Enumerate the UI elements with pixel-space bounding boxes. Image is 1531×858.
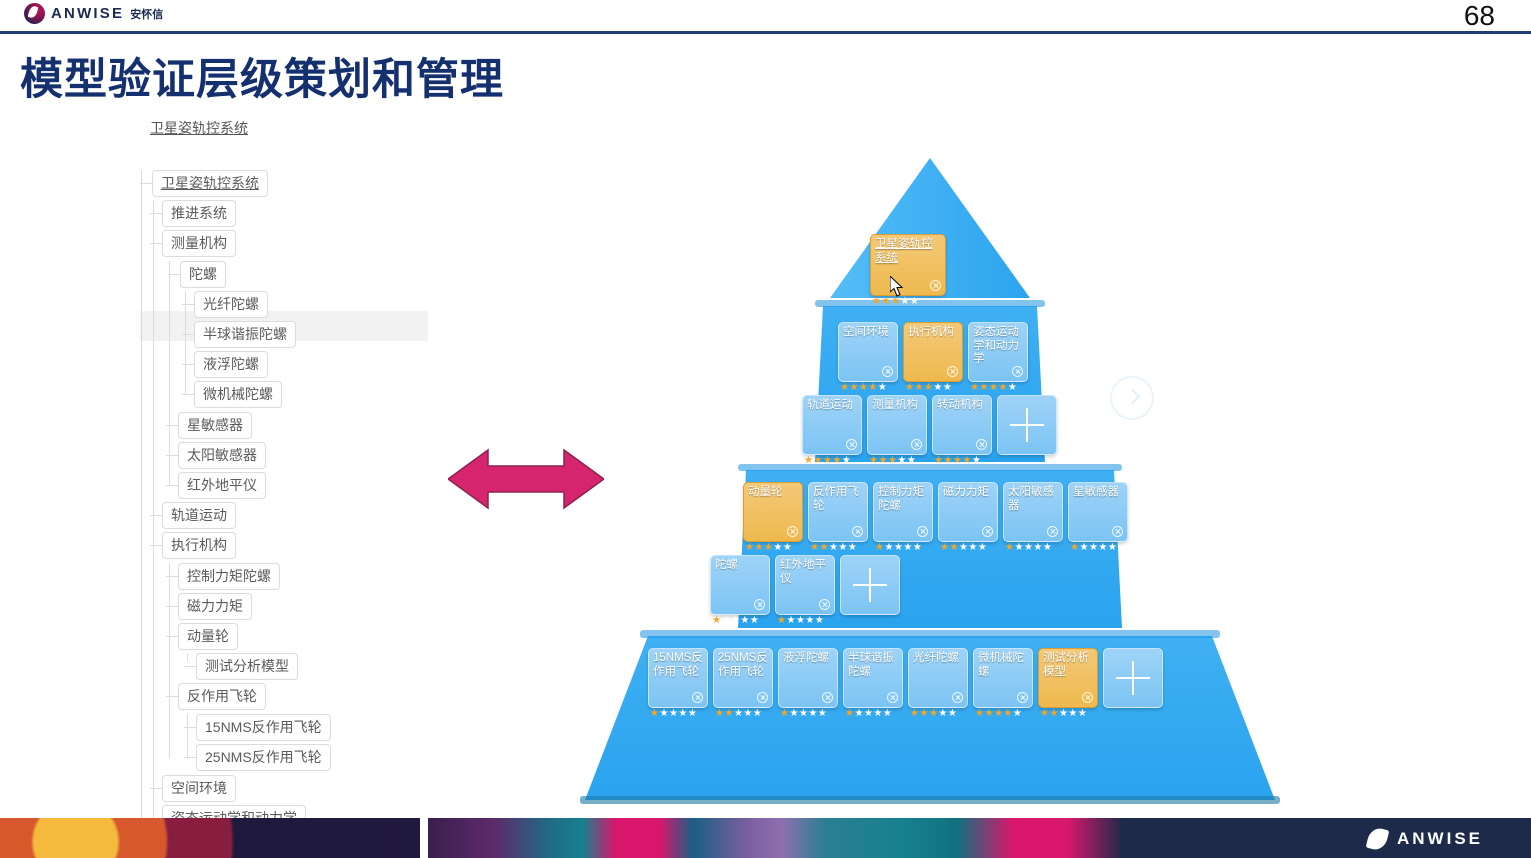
pyramid-tile-label: 红外地平仪 xyxy=(780,559,831,586)
close-circle-icon[interactable] xyxy=(982,526,993,537)
close-circle-icon[interactable] xyxy=(917,526,928,537)
plus-icon xyxy=(1010,424,1044,426)
close-circle-icon[interactable] xyxy=(882,366,893,377)
pyramid-tile-label: 姿态运动学和动力学 xyxy=(973,326,1024,367)
tree-node[interactable]: 测量机构 xyxy=(162,230,236,257)
close-circle-icon[interactable] xyxy=(846,439,857,450)
tree-node[interactable]: 磁力力矩 xyxy=(178,593,252,620)
tree-node[interactable]: 液浮陀螺 xyxy=(194,351,268,378)
tree-connector xyxy=(166,606,178,607)
pyramid-tile[interactable]: 动量轮★★★★★ xyxy=(743,482,803,542)
pyramid-tile[interactable]: 卫星姿轨控系统★★★★★ xyxy=(870,234,946,296)
pyramid-tile[interactable]: 轨道运动★★★★★ xyxy=(802,395,862,455)
tree-node[interactable]: 光纤陀螺 xyxy=(194,291,268,318)
tree-connector xyxy=(166,576,178,577)
tree-connector xyxy=(169,563,170,759)
close-circle-icon[interactable] xyxy=(911,439,922,450)
close-circle-icon[interactable] xyxy=(1082,692,1093,703)
close-circle-icon[interactable] xyxy=(1112,526,1123,537)
close-circle-icon[interactable] xyxy=(1017,692,1028,703)
tree-connector xyxy=(150,213,162,214)
tree-connector xyxy=(166,485,178,486)
pyramid-tile[interactable]: 转动机构★★★★★ xyxy=(932,395,992,455)
pyramid-tile-label: 25NMS反作用飞轮 xyxy=(718,652,769,679)
pyramid-tile[interactable]: 测量机构★★★★★ xyxy=(867,395,927,455)
tree-node[interactable]: 轨道运动 xyxy=(162,502,236,529)
anwise-logo-icon xyxy=(24,3,45,24)
tree-node[interactable]: 执行机构 xyxy=(162,532,236,559)
pyramid-tile-label: 磁力力矩 xyxy=(943,486,994,500)
footer-brand-name: ANWISE xyxy=(1397,829,1483,849)
tree-node[interactable]: 陀螺 xyxy=(180,261,226,288)
tree-node[interactable]: 测试分析模型 xyxy=(196,653,298,680)
pyramid-tile[interactable]: 液浮陀螺★★★★★ xyxy=(778,648,838,708)
tree-connector xyxy=(185,291,186,395)
star-rating[interactable]: ★★★★★ xyxy=(1005,543,1052,553)
tree-connector xyxy=(187,714,188,758)
close-circle-icon[interactable] xyxy=(947,366,958,377)
tree-connector xyxy=(166,455,178,456)
pyramid-tile-label: 太阳敏感器 xyxy=(1008,486,1059,513)
star-rating[interactable]: ★★★★★ xyxy=(777,616,824,626)
tree-node[interactable]: 25NMS反作用飞轮 xyxy=(196,744,331,771)
add-tile-button[interactable] xyxy=(1103,648,1163,708)
pyramid-tile[interactable]: 控制力矩陀螺★★★★★ xyxy=(873,482,933,542)
pyramid-tile-label: 动量轮 xyxy=(748,486,799,500)
close-circle-icon[interactable] xyxy=(822,692,833,703)
pyramid-tile[interactable]: 红外地平仪★★★★★ xyxy=(775,555,835,615)
pyramid-tile-label: 转动机构 xyxy=(937,399,988,413)
tree-connector xyxy=(182,364,194,365)
tree-node[interactable]: 控制力矩陀螺 xyxy=(178,563,280,590)
star-rating[interactable]: ★★★★★ xyxy=(975,709,1022,719)
pyramid-tile-label: 微机械陀螺 xyxy=(978,652,1029,679)
plus-icon xyxy=(853,584,887,586)
brand-name: ANWISE xyxy=(51,5,124,22)
tree-node[interactable]: 太阳敏感器 xyxy=(178,442,266,469)
tree-node[interactable]: 微机械陀螺 xyxy=(194,381,282,408)
star-rating[interactable]: ★★★★★ xyxy=(715,709,762,719)
star-rating[interactable]: ★★★★★ xyxy=(875,543,922,553)
tree-connector xyxy=(150,243,162,244)
pyramid-tile-label: 执行机构 xyxy=(908,326,959,340)
star-rating[interactable]: ★★★★★ xyxy=(934,456,981,466)
star-rating[interactable]: ★★★★★ xyxy=(810,543,857,553)
pyramid-tile-label: 15NMS反作用飞轮 xyxy=(653,652,704,679)
footer-right-banner xyxy=(428,818,1531,858)
tree-node[interactable]: 红外地平仪 xyxy=(178,472,266,499)
tree-connector xyxy=(150,515,162,516)
pyramid-tile[interactable]: 光纤陀螺★★★★★ xyxy=(908,648,968,708)
close-circle-icon[interactable] xyxy=(692,692,703,703)
close-circle-icon[interactable] xyxy=(930,280,941,291)
chevron-right-icon xyxy=(1125,389,1141,405)
star-rating[interactable]: ★★★★★ xyxy=(845,709,892,719)
pyramid-tile-label: 液浮陀螺 xyxy=(783,652,834,666)
tree-connector xyxy=(141,170,142,846)
close-circle-icon[interactable] xyxy=(757,692,768,703)
pyramid-tile[interactable]: 星敏感器★★★★★ xyxy=(1068,482,1128,542)
tree-heading: 卫星姿轨控系统 xyxy=(150,118,248,138)
close-circle-icon[interactable] xyxy=(819,599,830,610)
tree-connector xyxy=(150,788,162,789)
star-rating[interactable]: ★★★★★ xyxy=(650,709,697,719)
tree-connector xyxy=(169,261,170,485)
pyramid-tile[interactable]: 25NMS反作用飞轮★★★★★ xyxy=(713,648,773,708)
tree-node[interactable]: 半球谐振陀螺 xyxy=(194,321,296,348)
footer-brand-logo: ANWISE xyxy=(1368,828,1483,850)
star-rating[interactable]: ★★★★★ xyxy=(910,709,957,719)
pyramid-tile-label: 控制力矩陀螺 xyxy=(878,486,929,513)
star-rating[interactable]: ★★★★★ xyxy=(940,543,987,553)
pyramid-tile[interactable]: 陀螺★★★★★ xyxy=(710,555,770,615)
tree-connector xyxy=(153,200,154,846)
tree-node[interactable]: 反作用飞轮 xyxy=(178,683,266,710)
tree-connector xyxy=(184,727,196,728)
pyramid-tile[interactable]: 空间环境★★★★★ xyxy=(838,322,898,382)
tree-node[interactable]: 卫星姿轨控系统 xyxy=(152,170,268,197)
pyramid-tile-label: 半球谐振陀螺 xyxy=(848,652,899,679)
tree-panel[interactable]: 卫星姿轨控系统 卫星姿轨控系统推进系统测量机构陀螺光纤陀螺半球谐振陀螺液浮陀螺微… xyxy=(0,104,430,846)
close-circle-icon[interactable] xyxy=(952,692,963,703)
pyramid-tile-label: 测试分析模型 xyxy=(1043,652,1094,679)
star-rating[interactable]: ★★★★★ xyxy=(905,383,952,393)
star-rating[interactable]: ★★★★★ xyxy=(712,616,759,626)
tree-connector xyxy=(182,334,194,335)
tree-connector xyxy=(182,304,194,305)
tree-connector xyxy=(187,653,188,661)
tree-node[interactable]: 15NMS反作用飞轮 xyxy=(196,714,331,741)
pyramid-tile-label: 测量机构 xyxy=(872,399,923,413)
page-title: 模型验证层级策划和管理 xyxy=(20,45,504,107)
tree-node[interactable]: 空间环境 xyxy=(162,775,236,802)
tree-connector xyxy=(166,696,178,697)
mouse-cursor xyxy=(890,276,906,303)
star-rating[interactable]: ★★★★★ xyxy=(1070,543,1117,553)
pyramid-tile[interactable]: 执行机构★★★★★ xyxy=(903,322,963,382)
close-circle-icon[interactable] xyxy=(787,526,798,537)
pyramid-tile[interactable]: 微机械陀螺★★★★★ xyxy=(973,648,1033,708)
star-rating[interactable]: ★★★★★ xyxy=(869,456,916,466)
pyramid-tile[interactable]: 半球谐振陀螺★★★★★ xyxy=(843,648,903,708)
star-rating[interactable]: ★★★★★ xyxy=(1040,709,1087,719)
tree-node[interactable]: 星敏感器 xyxy=(178,412,252,439)
pyramid-tile-label: 反作用飞轮 xyxy=(813,486,864,513)
pyramid-tile[interactable]: 15NMS反作用飞轮★★★★★ xyxy=(648,648,708,708)
star-rating[interactable]: ★★★★★ xyxy=(745,543,792,553)
brand-logo: ANWISE 安怀信 xyxy=(24,3,163,24)
close-circle-icon[interactable] xyxy=(1012,366,1023,377)
pyramid-tile-label: 卫星姿轨控系统 xyxy=(875,238,942,265)
page-number: 68 xyxy=(1464,0,1495,32)
pyramid-tile-label: 陀螺 xyxy=(715,559,766,573)
pyramid-tile-label: 星敏感器 xyxy=(1073,486,1124,500)
pyramid-tile[interactable]: 太阳敏感器★★★★★ xyxy=(1003,482,1063,542)
star-rating[interactable]: ★★★★★ xyxy=(804,456,851,466)
close-circle-icon[interactable] xyxy=(754,599,765,610)
star-rating[interactable]: ★★★★★ xyxy=(780,709,827,719)
close-circle-icon[interactable] xyxy=(1047,526,1058,537)
footer-left-banner xyxy=(0,818,420,858)
pyramid-tile-label: 轨道运动 xyxy=(807,399,858,413)
tree-connector xyxy=(184,666,196,667)
pyramid-tile[interactable]: 测试分析模型★★★★★ xyxy=(1038,648,1098,708)
pyramid-tile[interactable]: 磁力力矩★★★★★ xyxy=(938,482,998,542)
pyramid-tile[interactable]: 反作用飞轮★★★★★ xyxy=(808,482,868,542)
close-circle-icon[interactable] xyxy=(852,526,863,537)
brand-name-cn: 安怀信 xyxy=(130,6,163,22)
pyramid-tile[interactable]: 姿态运动学和动力学★★★★★ xyxy=(968,322,1028,382)
tree-connector xyxy=(166,636,178,637)
tree-connector xyxy=(150,545,162,546)
tree-node[interactable]: 动量轮 xyxy=(178,623,238,650)
app-header: ANWISE 安怀信 68 xyxy=(0,0,1531,32)
tree-node[interactable]: 推进系统 xyxy=(162,200,236,227)
header-divider xyxy=(0,31,1531,34)
anwise-footer-logo-icon xyxy=(1366,826,1390,852)
tree-connector xyxy=(184,757,196,758)
close-circle-icon[interactable] xyxy=(887,692,898,703)
plus-icon xyxy=(1116,677,1150,679)
pyramid-tile-label: 空间环境 xyxy=(843,326,894,340)
add-tile-button[interactable] xyxy=(997,395,1057,455)
tree-connector xyxy=(182,394,194,395)
add-tile-button[interactable] xyxy=(840,555,900,615)
star-rating[interactable]: ★★★★★ xyxy=(840,383,887,393)
pyramid-diagram[interactable]: 卫星姿轨控系统★★★★★空间环境★★★★★执行机构★★★★★姿态运动学和动力学★… xyxy=(540,150,1330,810)
next-slide-button[interactable] xyxy=(1110,376,1154,420)
close-circle-icon[interactable] xyxy=(976,439,987,450)
star-rating[interactable]: ★★★★★ xyxy=(970,383,1017,393)
pyramid-tile-label: 光纤陀螺 xyxy=(913,652,964,666)
tree-connector xyxy=(166,425,178,426)
